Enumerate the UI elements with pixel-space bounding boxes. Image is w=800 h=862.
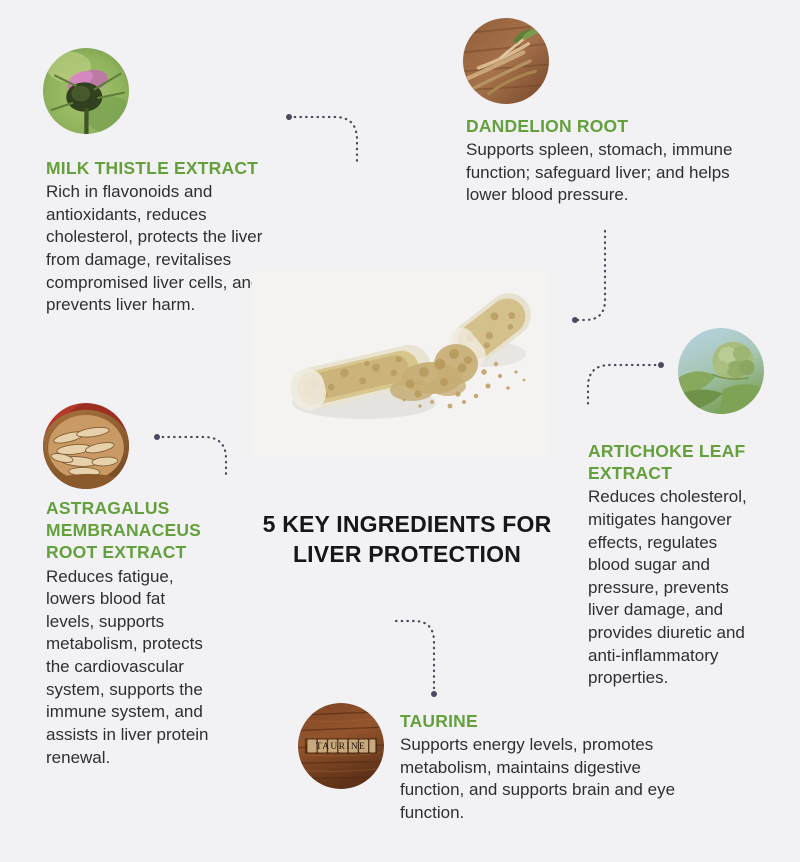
astragalus-heading-line3: ROOT EXTRACT (46, 542, 186, 562)
artichoke-block: ARTICHOKE LEAF EXTRACT Reduces cholester… (588, 440, 758, 690)
dandelion-root-heading: DANDELION ROOT (466, 115, 756, 137)
artichoke-photo (678, 328, 764, 414)
astragalus-body: Reduces fatigue, lowers blood fat levels… (46, 566, 216, 769)
taurine-photo: TAURINE (298, 703, 384, 789)
dandelion-root-body: Supports spleen, stomach, immune functio… (466, 139, 756, 207)
milk-thistle-heading: MILK THISTLE EXTRACT (46, 157, 296, 179)
connector-dot-dandelion (572, 317, 578, 323)
connector-dot-artichoke (658, 362, 664, 368)
connector-dot-astragalus (154, 434, 160, 440)
astragalus-photo (43, 403, 129, 489)
connector-astragalus (157, 437, 226, 478)
astragalus-heading-line2: MEMBRANACEUS (46, 520, 201, 540)
taurine-body: Supports energy levels, promotes metabol… (400, 734, 685, 824)
page-title: 5 KEY INGREDIENTS FOR LIVER PROTECTION (232, 510, 582, 570)
capsule-image (252, 268, 548, 456)
artichoke-body: Reduces cholesterol, mitigates hangover … (588, 486, 758, 689)
taurine-tile-label: TAURINE (316, 742, 366, 752)
connector-dot-milk-thistle (286, 114, 292, 120)
astragalus-block: ASTRAGALUS MEMBRANACEUS ROOT EXTRACT Red… (46, 497, 216, 769)
dandelion-root-block: DANDELION ROOT Supports spleen, stomach,… (466, 115, 756, 207)
taurine-block: TAURINE Supports energy levels, promotes… (400, 710, 685, 825)
astragalus-heading: ASTRAGALUS MEMBRANACEUS ROOT EXTRACT (46, 497, 216, 564)
milk-thistle-photo (43, 48, 129, 134)
connector-artichoke (588, 365, 661, 405)
connector-milk-thistle (289, 117, 357, 163)
taurine-heading: TAURINE (400, 710, 685, 732)
connector-dandelion (575, 231, 605, 320)
artichoke-heading-line2: EXTRACT (588, 463, 672, 483)
page-title-line1: 5 KEY INGREDIENTS FOR (263, 511, 552, 537)
liver-supplement-infographic: MILK THISTLE EXTRACT Rich in flavonoids … (0, 0, 800, 862)
connector-dot-taurine (431, 691, 437, 697)
astragalus-heading-line1: ASTRAGALUS (46, 498, 170, 518)
dandelion-root-photo (463, 18, 549, 104)
page-title-line2: LIVER PROTECTION (293, 541, 521, 567)
artichoke-heading-line1: ARTICHOKE LEAF (588, 441, 745, 461)
connector-taurine (396, 621, 434, 694)
artichoke-heading: ARTICHOKE LEAF EXTRACT (588, 440, 758, 484)
